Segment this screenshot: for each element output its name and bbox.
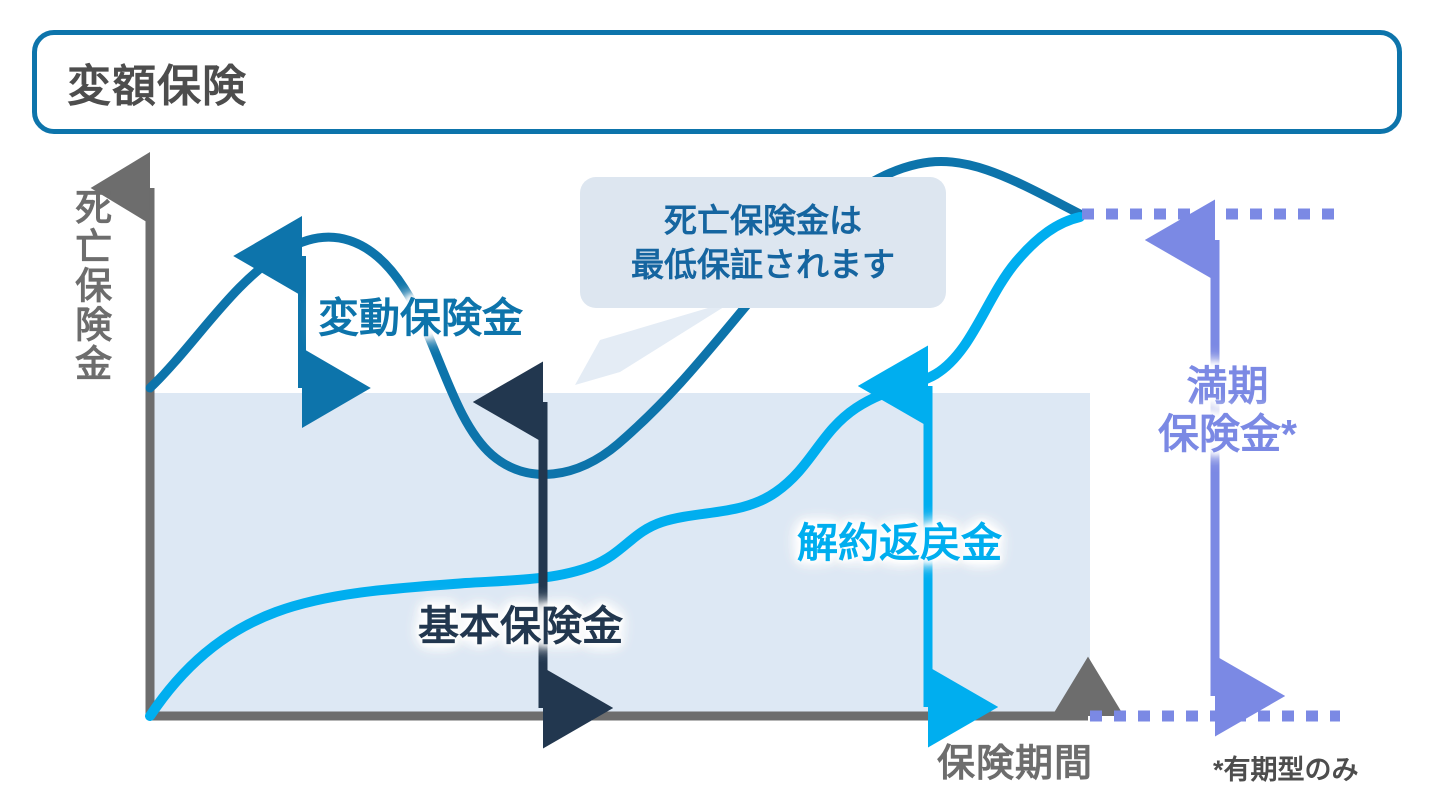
callout-bubble: 死亡保険金は 最低保証されます xyxy=(580,177,946,308)
callout-tail xyxy=(575,300,735,385)
x-axis-label: 保険期間 xyxy=(937,742,1093,787)
y-axis-label: 死亡保険金 xyxy=(68,188,112,383)
diagram-canvas: 変額保険 xyxy=(0,0,1435,806)
footnote: *有期型のみ xyxy=(1213,755,1359,787)
surrender-value-label: 解約返戻金 xyxy=(797,519,1002,567)
maturity-benefit-label-line-1: 満期 xyxy=(1158,362,1297,410)
title-card: 変額保険 xyxy=(32,30,1402,134)
basic-benefit-label: 基本保険金 xyxy=(418,602,623,650)
variable-benefit-label: 変動保険金 xyxy=(318,294,523,342)
page-title: 変額保険 xyxy=(67,50,247,114)
callout-line-2: 最低保証されます xyxy=(631,243,895,287)
maturity-benefit-label-line-2: 保険金* xyxy=(1158,410,1297,458)
maturity-benefit-label: 満期 保険金* xyxy=(1158,362,1297,459)
callout-line-1: 死亡保険金は xyxy=(664,199,862,243)
